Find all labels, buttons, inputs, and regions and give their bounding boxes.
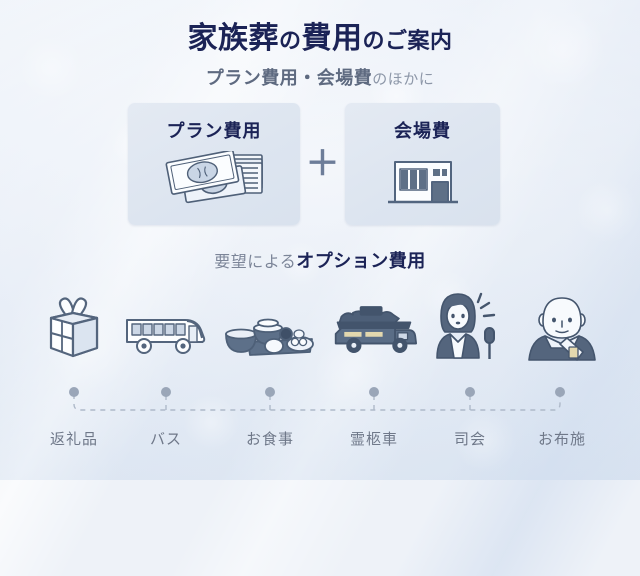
option-label-bus: バス — [120, 428, 212, 449]
option-label-hearse: 霊柩車 — [328, 428, 420, 449]
cost-box-venue: 会場費 — [345, 103, 500, 225]
cost-box-venue-label: 会場費 — [345, 117, 500, 143]
cost-box-plan: プラン費用 — [128, 103, 300, 225]
option-icon-row — [0, 282, 640, 362]
subtitle-light: のほかに — [372, 70, 434, 88]
title-particle-guide: のご案内 — [363, 29, 453, 54]
option-icon-mc-microphone — [424, 282, 516, 362]
option-icon-bus — [120, 282, 212, 362]
plus-operator: ＋ — [300, 103, 345, 225]
option-connector — [0, 384, 640, 420]
option-label-gift: 返礼品 — [28, 428, 120, 449]
option-heading-strong: オプション費用 — [296, 251, 426, 272]
page-title: 家族葬の費用のご案内 — [0, 22, 640, 56]
option-label-mc: 司会 — [424, 428, 516, 449]
building-icon — [345, 147, 500, 217]
option-heading: 要望によるオプション費用 — [0, 247, 640, 273]
page-subtitle: プラン費用・会場費のほかに — [0, 64, 640, 90]
banknotes-icon — [128, 147, 300, 217]
option-icon-gift — [28, 282, 120, 362]
option-icon-monk — [516, 282, 608, 362]
option-label-meal: お食事 — [224, 428, 316, 449]
option-label-offering: お布施 — [516, 428, 608, 449]
title-part-cost: 費用 — [302, 21, 363, 56]
option-icon-hearse — [328, 282, 420, 362]
option-label-row: 返礼品 バス お食事 霊柩車 司会 お布施 — [0, 428, 640, 450]
option-heading-light: 要望による — [214, 252, 296, 271]
cost-box-plan-label: プラン費用 — [128, 117, 300, 143]
subtitle-strong: プラン費用・会場費 — [206, 68, 373, 89]
title-part-family-funeral: 家族葬 — [187, 21, 279, 56]
title-particle-no: の — [279, 29, 302, 54]
option-icon-meal-tray — [224, 282, 316, 362]
